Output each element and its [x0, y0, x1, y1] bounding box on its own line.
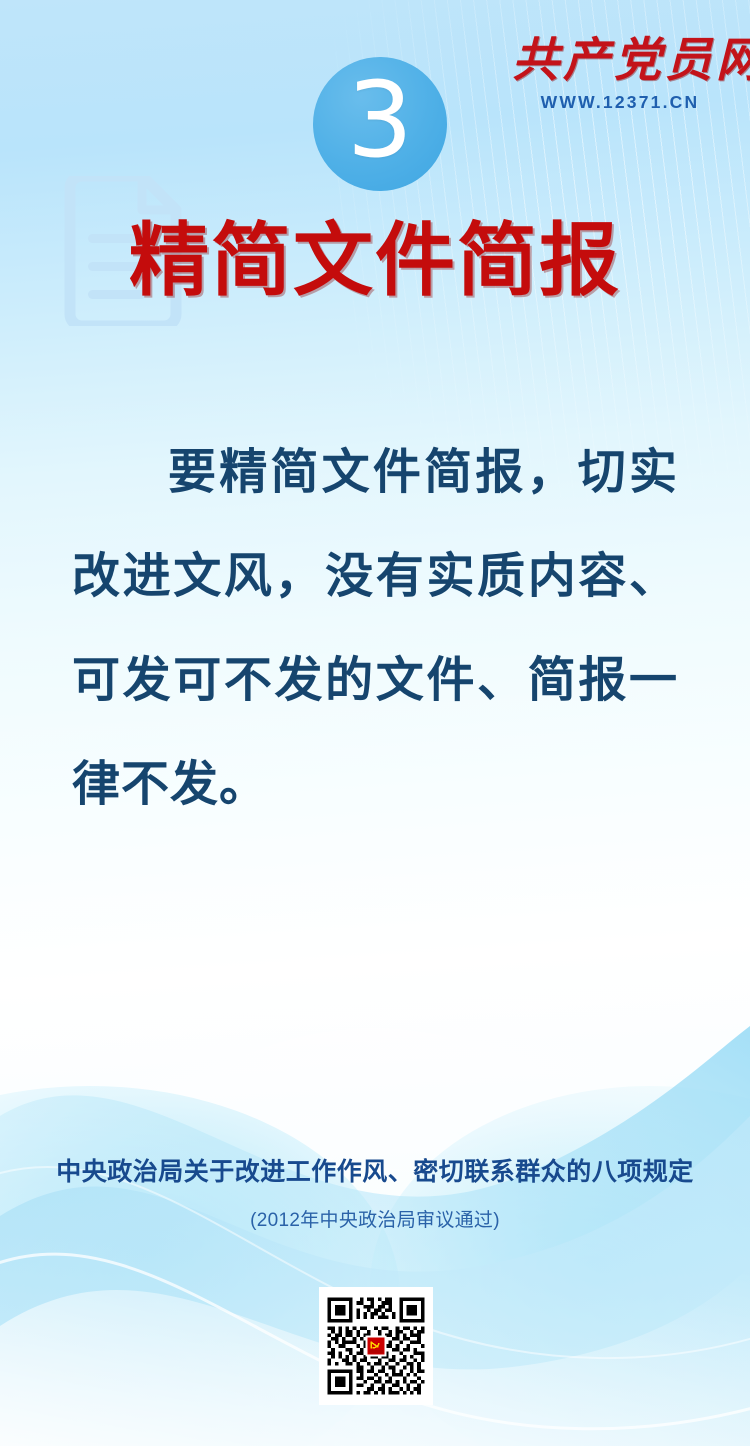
footer-regulation-title: 中央政治局关于改进工作作风、密切联系群众的八项规定: [0, 1152, 750, 1188]
page-title: 精简文件简报: [0, 196, 750, 312]
number-badge: 3: [313, 57, 447, 191]
logo-brand-text: 共产党员网: [512, 38, 728, 85]
number-badge-value: 3: [347, 68, 413, 172]
poster-canvas: 共产党员网 WWW.12371.CN 3 精简文件简报 要精简文件简报，切实改进…: [0, 0, 750, 1446]
body-paragraph: 要精简文件简报，切实改进文风，没有实质内容、可发可不发的文件、简报一律不发。: [72, 421, 678, 837]
qr-code-matrix: [324, 1294, 428, 1398]
logo-url-text: WWW.12371.CN: [512, 92, 728, 113]
party-emblem-icon: [366, 1336, 387, 1357]
qr-code[interactable]: [319, 1287, 433, 1405]
footer-regulation-subtitle: (2012年中央政治局审议通过): [0, 1205, 750, 1232]
site-logo[interactable]: 共产党员网 WWW.12371.CN: [512, 38, 728, 113]
